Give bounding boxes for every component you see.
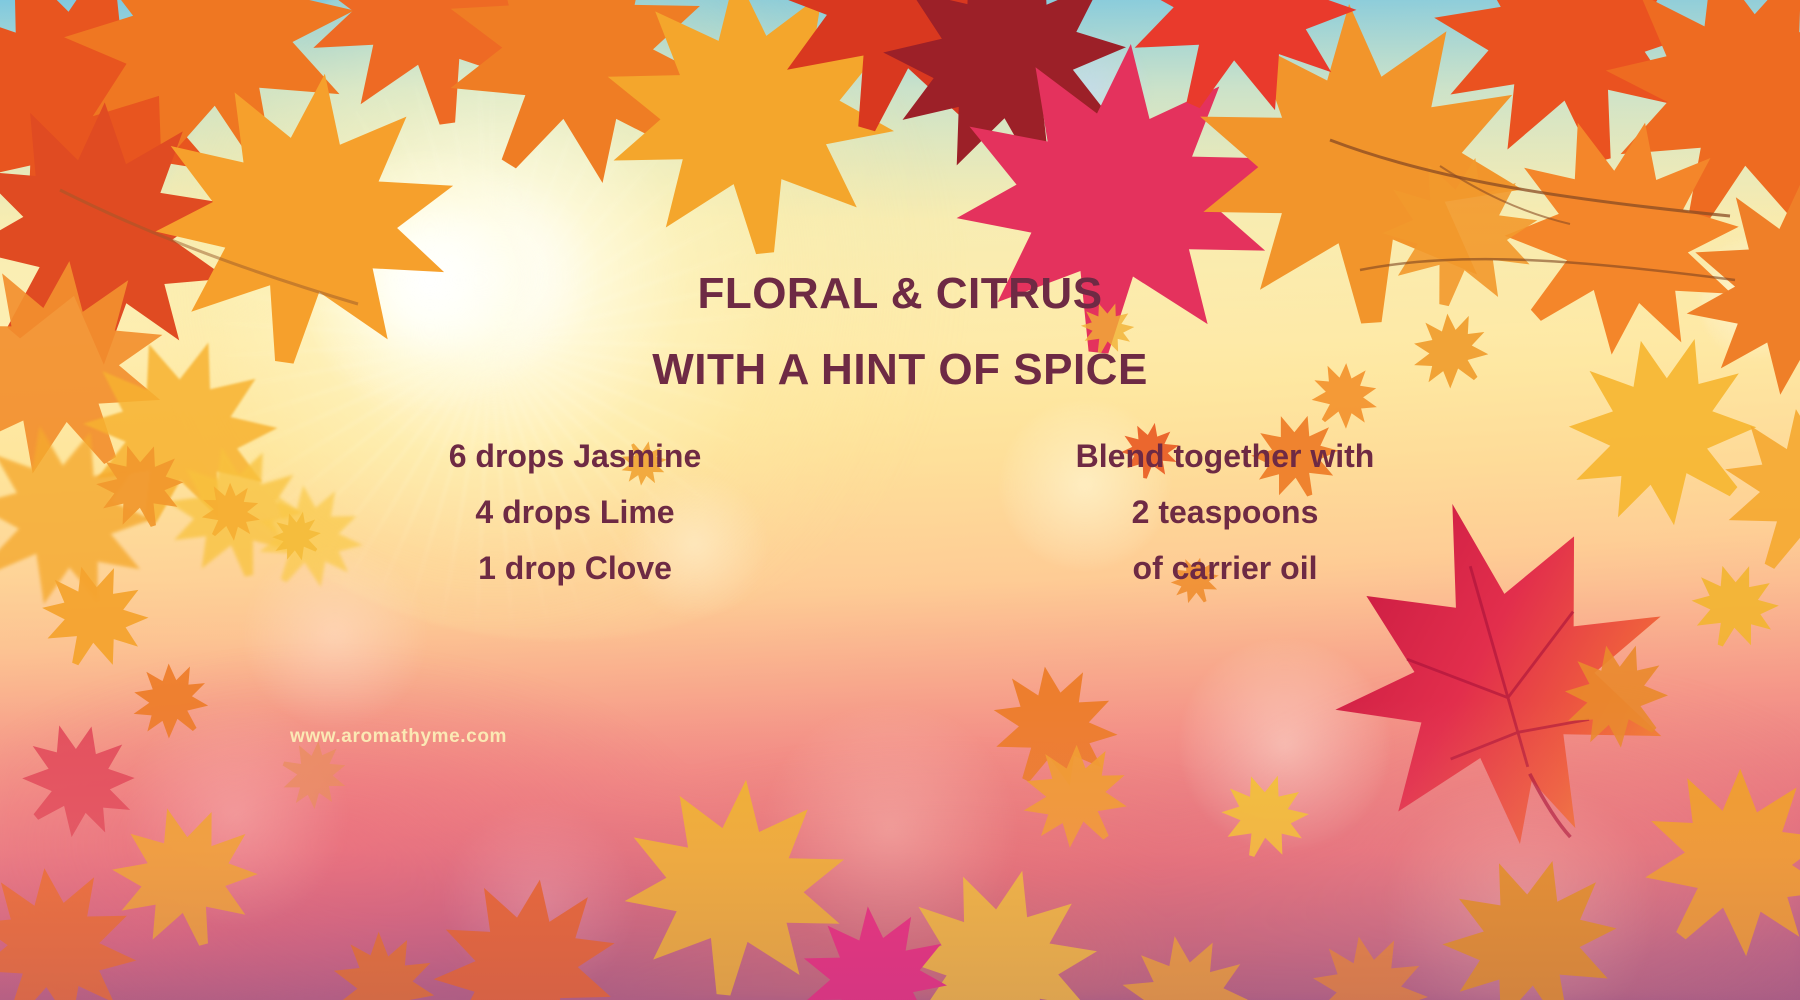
recipe-right-line-2: 2 teaspoons — [990, 496, 1460, 528]
recipe-right-line-3: of carrier oil — [990, 552, 1460, 584]
recipe-left-line-1: 6 drops Jasmine — [340, 440, 810, 472]
website-url[interactable]: www.aromathyme.com — [290, 726, 507, 748]
recipe-left-line-2: 4 drops Lime — [340, 496, 810, 528]
recipe-left-column: 6 drops Jasmine 4 drops Lime 1 drop Clov… — [340, 440, 810, 584]
maple-leaf — [793, 893, 958, 1000]
recipe-right-line-1: Blend together with — [990, 440, 1460, 472]
title-line-1: FLORAL & CITRUS — [0, 272, 1800, 316]
recipe-graphic-canvas: FLORAL & CITRUS WITH A HINT OF SPICE 6 d… — [0, 0, 1800, 1000]
title-block: FLORAL & CITRUS WITH A HINT OF SPICE — [0, 272, 1800, 392]
title-line-2: WITH A HINT OF SPICE — [0, 348, 1800, 392]
recipe-left-line-3: 1 drop Clove — [340, 552, 810, 584]
recipe-columns: 6 drops Jasmine 4 drops Lime 1 drop Clov… — [0, 440, 1800, 584]
recipe-right-column: Blend together with 2 teaspoons of carri… — [990, 440, 1460, 584]
